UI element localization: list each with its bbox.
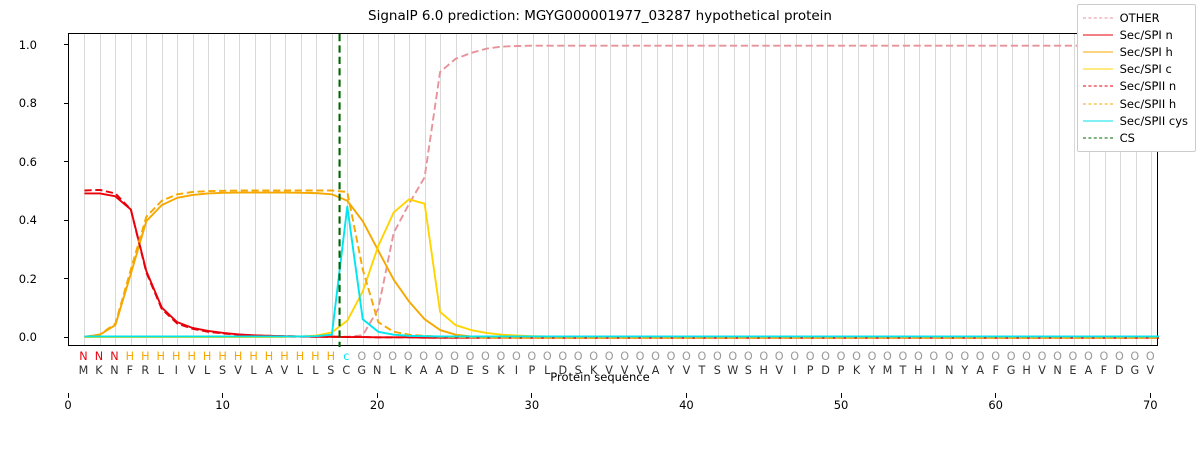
residue-letter: D bbox=[558, 364, 567, 377]
y-tick-mark bbox=[64, 337, 69, 338]
series-sec-spi-h bbox=[84, 193, 1159, 338]
region-marker: O bbox=[373, 350, 382, 363]
residue-letter: G bbox=[1007, 364, 1016, 377]
residue-letter: V bbox=[621, 364, 629, 377]
x-tick-mark bbox=[1150, 393, 1151, 398]
y-tick-label: 0.6 bbox=[19, 155, 37, 169]
residue-letter: G bbox=[357, 364, 366, 377]
region-marker: O bbox=[435, 350, 444, 363]
residue-letter: S bbox=[327, 364, 334, 377]
x-tick-mark bbox=[222, 393, 223, 398]
residue-letter: T bbox=[899, 364, 906, 377]
residue-letter: K bbox=[404, 364, 411, 377]
x-tick-mark bbox=[841, 393, 842, 398]
legend-swatch bbox=[1083, 63, 1113, 75]
residue-letter: K bbox=[497, 364, 504, 377]
residue-letter: S bbox=[575, 364, 582, 377]
y-tick-label: 0.0 bbox=[19, 330, 37, 344]
legend-item[interactable]: OTHER bbox=[1083, 9, 1188, 26]
residue-letter: I bbox=[793, 364, 796, 377]
residue-letter: M bbox=[79, 364, 89, 377]
residue-letter: T bbox=[698, 364, 705, 377]
x-tick-mark bbox=[377, 393, 378, 398]
residue-letter: D bbox=[1115, 364, 1124, 377]
region-marker: O bbox=[821, 350, 830, 363]
region-marker: O bbox=[543, 350, 552, 363]
region-marker: O bbox=[419, 350, 428, 363]
region-marker: H bbox=[172, 350, 180, 363]
region-marker: O bbox=[605, 350, 614, 363]
region-marker: H bbox=[296, 350, 304, 363]
region-marker: O bbox=[636, 350, 645, 363]
residue-letter: A bbox=[652, 364, 660, 377]
residue-letter: F bbox=[1101, 364, 1107, 377]
region-marker: O bbox=[1099, 350, 1108, 363]
legend-swatch bbox=[1083, 115, 1113, 127]
residue-letter: P bbox=[838, 364, 845, 377]
y-tick-label: 0.4 bbox=[19, 213, 37, 227]
region-marker: N bbox=[95, 350, 103, 363]
region-marker: O bbox=[388, 350, 397, 363]
region-marker: O bbox=[883, 350, 892, 363]
region-marker: O bbox=[852, 350, 861, 363]
residue-letter: M bbox=[883, 364, 893, 377]
legend-swatch bbox=[1083, 80, 1113, 92]
region-marker: O bbox=[790, 350, 799, 363]
residue-letter: A bbox=[976, 364, 984, 377]
residue-letter: V bbox=[1038, 364, 1046, 377]
x-tick-label: 10 bbox=[215, 398, 230, 412]
region-marker: O bbox=[589, 350, 598, 363]
legend-swatch bbox=[1083, 29, 1113, 41]
residue-letter: L bbox=[297, 364, 303, 377]
region-marker: O bbox=[898, 350, 907, 363]
region-marker: c bbox=[343, 350, 349, 363]
legend-item[interactable]: Sec/SPII cys bbox=[1083, 112, 1188, 129]
region-marker: O bbox=[728, 350, 737, 363]
region-marker: O bbox=[404, 350, 413, 363]
residue-letter: L bbox=[390, 364, 396, 377]
region-marker: O bbox=[574, 350, 583, 363]
region-marker: O bbox=[1130, 350, 1139, 363]
region-marker: O bbox=[667, 350, 676, 363]
x-tick-mark bbox=[531, 393, 532, 398]
residue-letter: L bbox=[250, 364, 256, 377]
region-marker: H bbox=[157, 350, 165, 363]
residue-letter: A bbox=[435, 364, 443, 377]
legend-item[interactable]: Sec/SPII n bbox=[1083, 78, 1188, 95]
region-marker: H bbox=[126, 350, 134, 363]
series-sec-spii-cys bbox=[84, 207, 1159, 337]
residue-letter: R bbox=[141, 364, 149, 377]
residue-letter: D bbox=[450, 364, 459, 377]
residue-letter: F bbox=[127, 364, 133, 377]
x-tick-label: 60 bbox=[988, 398, 1003, 412]
residue-letter: D bbox=[821, 364, 830, 377]
x-tick-mark bbox=[68, 393, 69, 398]
series-layer bbox=[69, 34, 1157, 345]
residue-letter: N bbox=[945, 364, 953, 377]
region-marker: O bbox=[1053, 350, 1062, 363]
x-tick-label: 20 bbox=[370, 398, 385, 412]
region-marker: H bbox=[249, 350, 257, 363]
region-marker: H bbox=[327, 350, 335, 363]
residue-letter: S bbox=[714, 364, 721, 377]
series-sec-spii-n bbox=[84, 190, 1159, 338]
region-marker: H bbox=[280, 350, 288, 363]
residue-letter: F bbox=[992, 364, 998, 377]
chart-legend: OTHERSec/SPI nSec/SPI hSec/SPI cSec/SPII… bbox=[1077, 4, 1196, 152]
region-marker: O bbox=[1022, 350, 1031, 363]
residue-letter: V bbox=[281, 364, 289, 377]
residue-letter: H bbox=[760, 364, 768, 377]
region-marker: O bbox=[512, 350, 521, 363]
region-marker: O bbox=[945, 350, 954, 363]
chart-title: SignalP 6.0 prediction: MGYG000001977_03… bbox=[0, 8, 1200, 24]
legend-label: Sec/SPII n bbox=[1120, 79, 1177, 93]
x-tick-mark bbox=[995, 393, 996, 398]
region-marker: N bbox=[110, 350, 118, 363]
y-tick-mark bbox=[64, 103, 69, 104]
legend-label: CS bbox=[1120, 131, 1135, 145]
y-tick-label: 1.0 bbox=[19, 38, 37, 52]
region-marker: H bbox=[187, 350, 195, 363]
region-marker: H bbox=[265, 350, 273, 363]
residue-letter: I bbox=[932, 364, 935, 377]
residue-letter: Y bbox=[961, 364, 968, 377]
residue-letter: V bbox=[683, 364, 691, 377]
residue-letter: V bbox=[775, 364, 783, 377]
legend-swatch bbox=[1083, 12, 1113, 24]
residue-letter: W bbox=[727, 364, 738, 377]
residue-letter: P bbox=[528, 364, 535, 377]
series-sec-spi-c bbox=[84, 199, 1159, 337]
residue-letter: K bbox=[590, 364, 597, 377]
x-tick-label: 0 bbox=[64, 398, 71, 412]
legend-label: Sec/SPI h bbox=[1120, 45, 1173, 59]
region-annotation-row: NNNHHHHHHHHHHHHHHcOOOOOOOOOOOOOOOOOOOOOO… bbox=[68, 350, 1158, 365]
legend-label: Sec/SPII h bbox=[1120, 97, 1177, 111]
chart-figure: SignalP 6.0 prediction: MGYG000001977_03… bbox=[0, 0, 1200, 450]
residue-letter: S bbox=[745, 364, 752, 377]
region-marker: O bbox=[1038, 350, 1047, 363]
region-marker: O bbox=[1084, 350, 1093, 363]
legend-item[interactable]: Sec/SPI c bbox=[1083, 61, 1188, 78]
region-marker: O bbox=[651, 350, 660, 363]
legend-item[interactable]: CS bbox=[1083, 129, 1188, 146]
residue-letter: L bbox=[544, 364, 550, 377]
legend-swatch bbox=[1083, 132, 1113, 144]
legend-swatch bbox=[1083, 46, 1113, 58]
legend-label: Sec/SPII cys bbox=[1120, 114, 1188, 128]
region-marker: O bbox=[837, 350, 846, 363]
region-marker: H bbox=[234, 350, 242, 363]
residue-letter: H bbox=[1022, 364, 1030, 377]
region-marker: O bbox=[697, 350, 706, 363]
region-marker: O bbox=[759, 350, 768, 363]
series-sec-spii-h bbox=[84, 191, 1159, 338]
region-marker: O bbox=[713, 350, 722, 363]
region-marker: N bbox=[79, 350, 87, 363]
residue-letter: I bbox=[515, 364, 518, 377]
region-marker: H bbox=[141, 350, 149, 363]
residue-letter: N bbox=[373, 364, 381, 377]
y-tick-mark bbox=[64, 161, 69, 162]
region-marker: O bbox=[1069, 350, 1078, 363]
region-marker: O bbox=[744, 350, 753, 363]
region-marker: O bbox=[868, 350, 877, 363]
residue-letter: V bbox=[605, 364, 613, 377]
x-tick-mark bbox=[686, 393, 687, 398]
region-marker: O bbox=[806, 350, 815, 363]
residue-letter: V bbox=[188, 364, 196, 377]
legend-item[interactable]: Sec/SPI h bbox=[1083, 43, 1188, 60]
region-marker: H bbox=[311, 350, 319, 363]
region-marker: O bbox=[620, 350, 629, 363]
legend-label: Sec/SPI n bbox=[1120, 28, 1173, 42]
x-tick-label: 50 bbox=[834, 398, 849, 412]
residue-letter: E bbox=[466, 364, 473, 377]
residue-letter: S bbox=[219, 364, 226, 377]
residue-letter: A bbox=[420, 364, 428, 377]
residue-letter: G bbox=[1130, 364, 1139, 377]
region-marker: O bbox=[527, 350, 536, 363]
region-marker: O bbox=[960, 350, 969, 363]
plot-area bbox=[68, 33, 1158, 346]
region-marker: O bbox=[1115, 350, 1124, 363]
x-tick-label: 40 bbox=[679, 398, 694, 412]
region-marker: O bbox=[682, 350, 691, 363]
region-marker: O bbox=[481, 350, 490, 363]
y-tick-mark bbox=[64, 220, 69, 221]
region-marker: O bbox=[991, 350, 1000, 363]
residue-letter: V bbox=[234, 364, 242, 377]
region-marker: O bbox=[976, 350, 985, 363]
residue-letter: L bbox=[204, 364, 210, 377]
residue-letter: L bbox=[158, 364, 164, 377]
residue-letter: A bbox=[265, 364, 273, 377]
residue-letter: C bbox=[342, 364, 350, 377]
residue-sequence-row: MKNFRLIVLSVLAVLLSCGNLKAADESKIPLDSKVVVAYV… bbox=[68, 364, 1158, 379]
residue-letter: A bbox=[1085, 364, 1093, 377]
region-marker: O bbox=[1146, 350, 1155, 363]
residue-letter: Y bbox=[668, 364, 675, 377]
residue-letter: S bbox=[482, 364, 489, 377]
residue-letter: E bbox=[1069, 364, 1076, 377]
y-tick-label: 0.2 bbox=[19, 272, 37, 286]
legend-label: Sec/SPI c bbox=[1120, 62, 1172, 76]
region-marker: O bbox=[914, 350, 923, 363]
legend-swatch bbox=[1083, 98, 1113, 110]
legend-label: OTHER bbox=[1120, 11, 1160, 25]
region-marker: O bbox=[775, 350, 784, 363]
legend-item[interactable]: Sec/SPI n bbox=[1083, 26, 1188, 43]
region-marker: O bbox=[450, 350, 459, 363]
region-marker: O bbox=[466, 350, 475, 363]
residue-letter: V bbox=[1146, 364, 1154, 377]
residue-letter: K bbox=[95, 364, 102, 377]
residue-letter: N bbox=[1053, 364, 1061, 377]
region-marker: O bbox=[357, 350, 366, 363]
region-marker: H bbox=[218, 350, 226, 363]
residue-letter: K bbox=[853, 364, 860, 377]
region-marker: O bbox=[497, 350, 506, 363]
y-tick-label: 0.8 bbox=[19, 96, 37, 110]
residue-letter: I bbox=[175, 364, 178, 377]
y-tick-mark bbox=[64, 44, 69, 45]
region-marker: O bbox=[929, 350, 938, 363]
x-tick-label: 30 bbox=[525, 398, 540, 412]
series-sec-spi-n bbox=[84, 193, 1159, 337]
region-marker: O bbox=[1007, 350, 1016, 363]
residue-letter: P bbox=[807, 364, 814, 377]
residue-letter: L bbox=[312, 364, 318, 377]
residue-letter: H bbox=[914, 364, 922, 377]
y-tick-mark bbox=[64, 278, 69, 279]
x-tick-label: 70 bbox=[1143, 398, 1158, 412]
residue-letter: Y bbox=[869, 364, 876, 377]
residue-letter: N bbox=[110, 364, 118, 377]
legend-item[interactable]: Sec/SPII h bbox=[1083, 95, 1188, 112]
region-marker: O bbox=[558, 350, 567, 363]
residue-letter: V bbox=[636, 364, 644, 377]
region-marker: H bbox=[203, 350, 211, 363]
